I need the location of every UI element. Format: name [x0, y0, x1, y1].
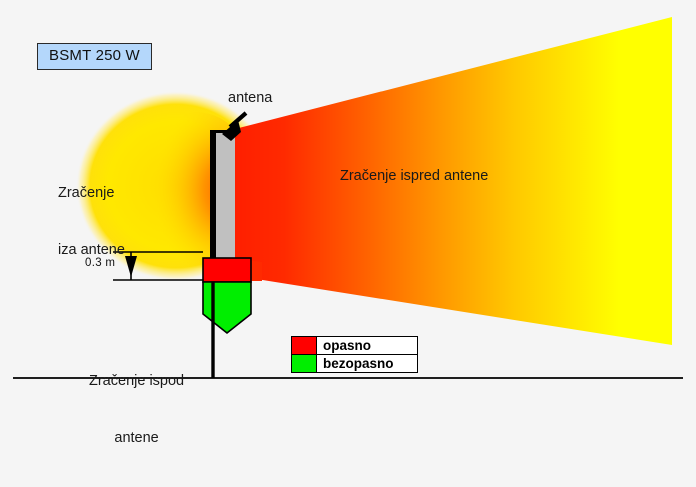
behind-radiation-label-line1: Zračenje	[58, 184, 125, 203]
radiation-diagram: BSMT 250 W antena Zračenje iza antene Zr…	[0, 0, 696, 401]
front-radiation-label: Zračenje ispred antene	[340, 167, 488, 186]
below-radiation-label-line1: Zračenje ispod	[89, 372, 184, 391]
legend-label-safe: bezopasno	[317, 355, 417, 372]
legend-swatch-safe	[292, 355, 317, 372]
danger-zone-block	[203, 258, 251, 282]
legend-label-danger: opasno	[317, 337, 417, 354]
antenna-callout-label: antena	[228, 89, 272, 108]
antenna-element-left-edge	[210, 131, 216, 260]
below-radiation-label: Zračenje ispod antene	[89, 333, 184, 487]
safe-zone-block	[203, 282, 251, 333]
legend: opasno bezopasno	[291, 336, 418, 373]
legend-row: bezopasno	[292, 355, 417, 372]
behind-radiation-label: Zračenje iza antene	[58, 145, 125, 299]
legend-row: opasno	[292, 337, 417, 355]
legend-swatch-danger	[292, 337, 317, 354]
below-radiation-label-line2: antene	[89, 429, 184, 448]
power-label-box: BSMT 250 W	[37, 43, 152, 70]
dimension-arrow-head	[125, 256, 137, 277]
dimension-label: 0.3 m	[85, 257, 115, 269]
